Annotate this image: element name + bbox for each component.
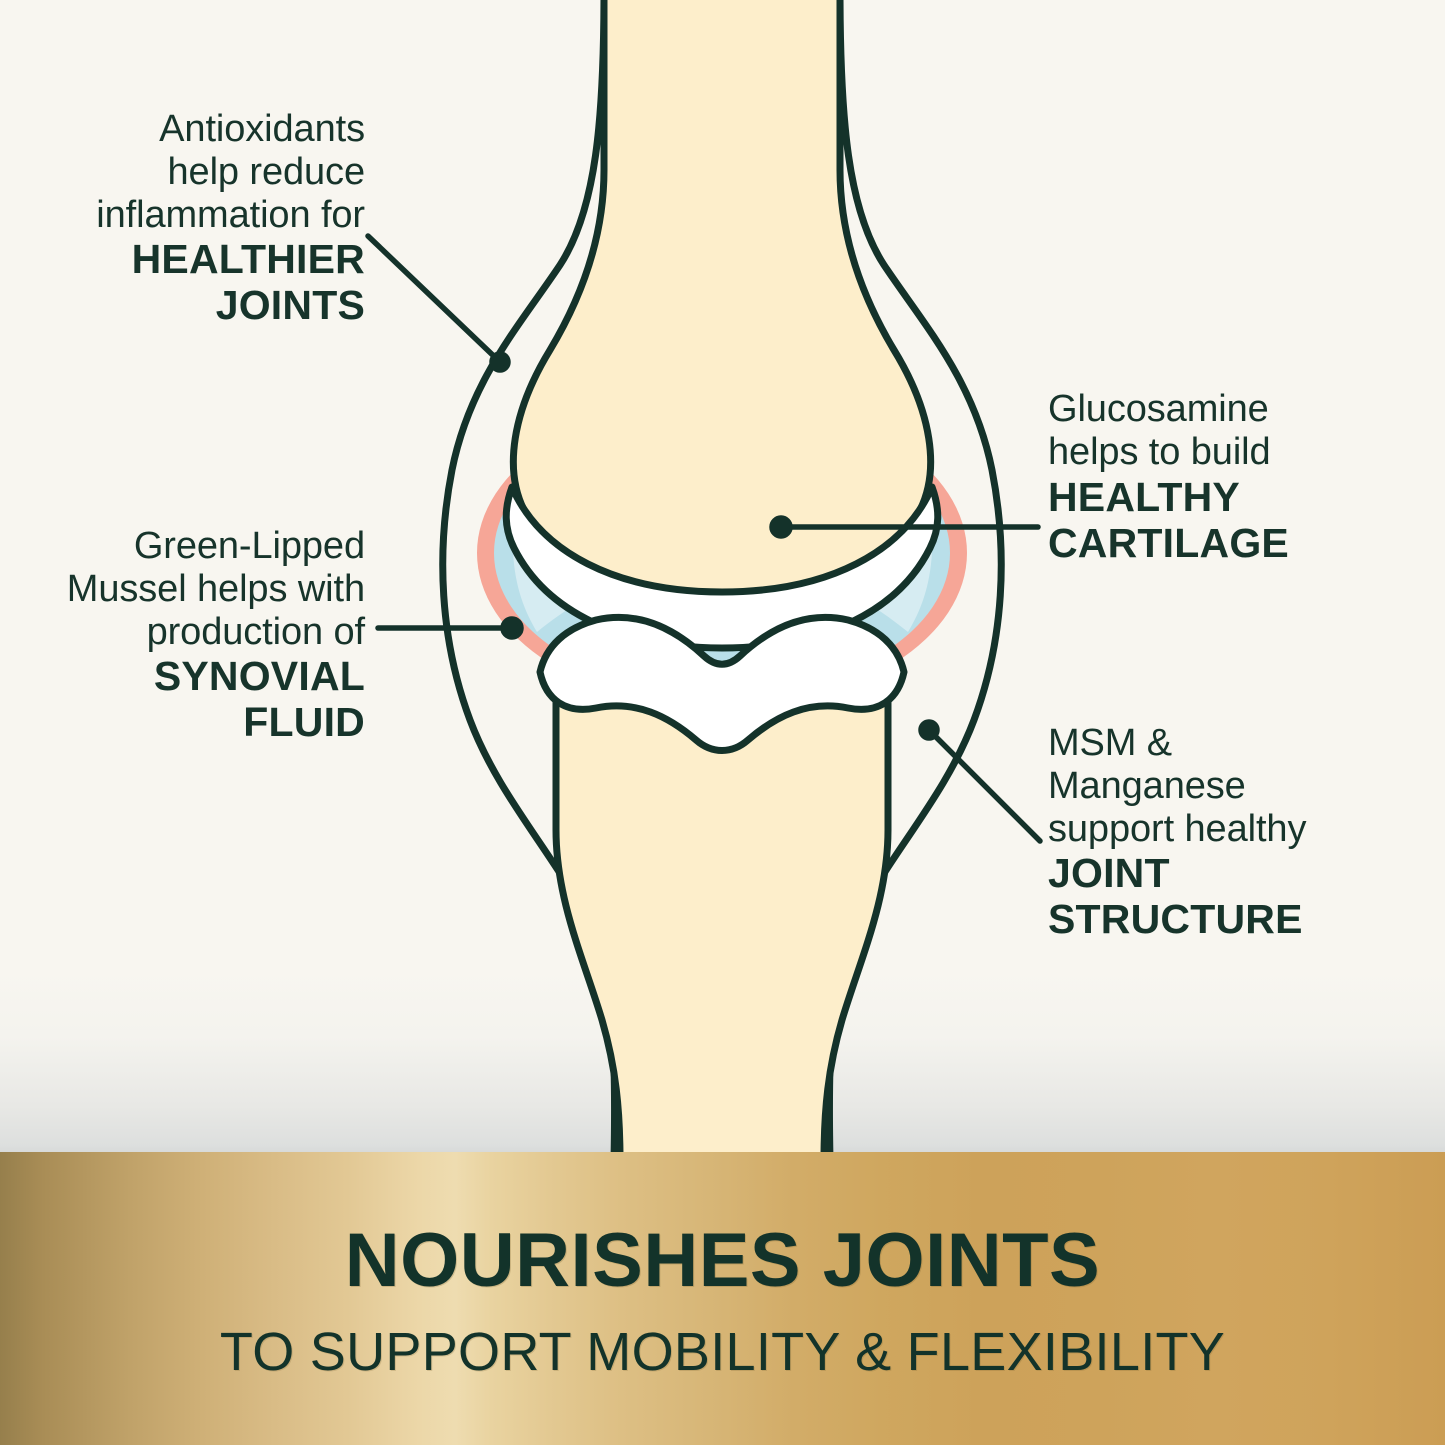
callout-mussel-lead-line-2: Mussel helps with [20, 568, 365, 611]
callout-msm-lead-line-1: MSM & [1048, 722, 1408, 765]
callout-glucosamine-emph-line-2: CARTILAGE [1048, 520, 1408, 566]
banner-subline: TO SUPPORT MOBILITY & FLEXIBILITY [220, 1325, 1225, 1379]
leader-dot-glucosamine [772, 518, 790, 536]
callout-glucosamine-lead-line-1: Glucosamine [1048, 388, 1408, 431]
callout-antioxidants-emph-line-2: JOINTS [20, 282, 365, 328]
banner-headline: NOURISHES JOINTS [345, 1223, 1100, 1299]
callout-msm-emph-line-1: JOINT [1048, 850, 1408, 896]
leader-dot-mussel [503, 619, 521, 637]
callout-antioxidants-lead-line-1: Antioxidants [20, 108, 365, 151]
leader-dot-msm [921, 722, 937, 738]
callout-mussel-emph-line-2: FLUID [20, 699, 365, 745]
callout-glucosamine: Glucosamine helps to build HEALTHY CARTI… [1048, 388, 1408, 566]
callout-mussel-emph-line-1: SYNOVIAL [20, 653, 365, 699]
callout-glucosamine-emph-line-1: HEALTHY [1048, 474, 1408, 520]
callout-msm-manganese: MSM & Manganese support healthy JOINT ST… [1048, 722, 1408, 943]
callout-antioxidants-lead-line-2: help reduce [20, 151, 365, 194]
infographic-page: Antioxidants help reduce inflammation fo… [0, 0, 1445, 1445]
callout-mussel-lead-line-1: Green-Lipped [20, 525, 365, 568]
leader-dot-antioxidants [492, 354, 508, 370]
upper-bone-femur [513, 0, 930, 600]
callout-antioxidants-lead-line-3: inflammation for [20, 194, 365, 237]
callout-msm-lead-line-3: support healthy [1048, 808, 1408, 851]
callout-green-lipped-mussel: Green-Lipped Mussel helps with productio… [20, 525, 365, 746]
callout-msm-emph-line-2: STRUCTURE [1048, 896, 1408, 942]
callout-antioxidants: Antioxidants help reduce inflammation fo… [20, 108, 365, 329]
gold-banner-content: NOURISHES JOINTS TO SUPPORT MOBILITY & F… [0, 1152, 1445, 1445]
callout-mussel-lead-line-3: production of [20, 611, 365, 654]
callout-msm-lead-line-2: Manganese [1048, 765, 1408, 808]
gold-banner: NOURISHES JOINTS TO SUPPORT MOBILITY & F… [0, 1152, 1445, 1445]
callout-antioxidants-emph-line-1: HEALTHIER [20, 236, 365, 282]
leader-line-antioxidants [368, 236, 500, 362]
callout-glucosamine-lead-line-2: helps to build [1048, 431, 1408, 474]
